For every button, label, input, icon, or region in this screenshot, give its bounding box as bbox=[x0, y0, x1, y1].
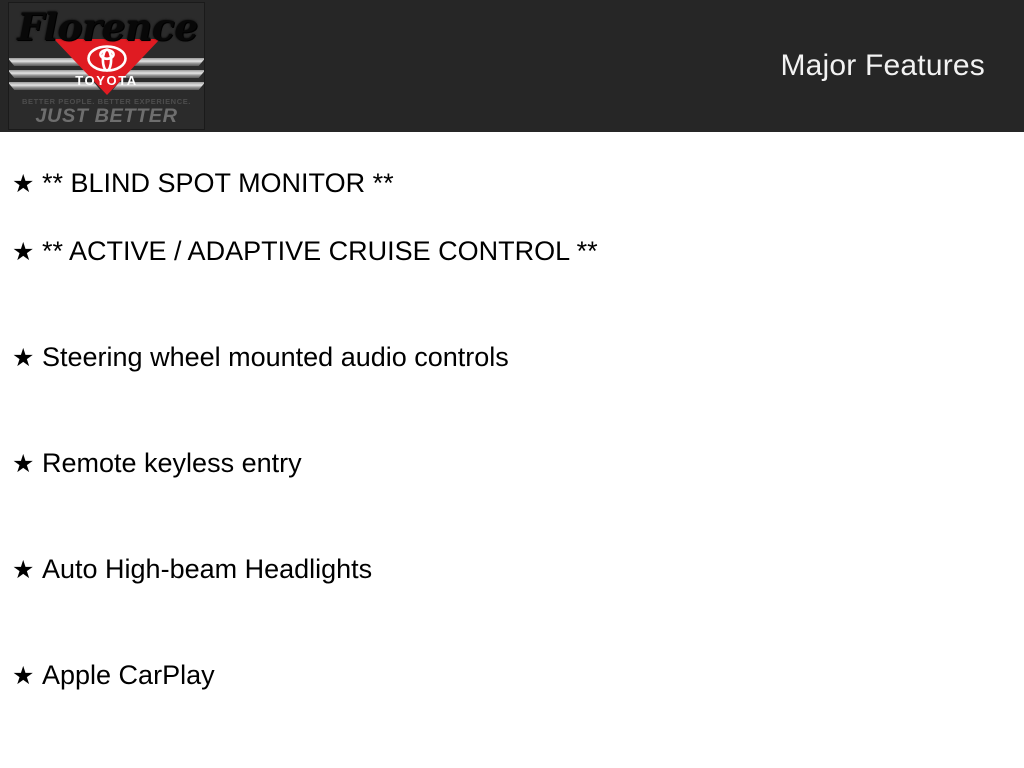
toyota-emblem-icon bbox=[87, 45, 127, 72]
slide-canvas: TOYOTA Florence BETTER PEOPLE. BETTER EX… bbox=[0, 0, 1024, 768]
dealer-logo: TOYOTA Florence BETTER PEOPLE. BETTER EX… bbox=[8, 2, 205, 130]
logo-brand-text: TOYOTA bbox=[9, 73, 204, 88]
logo-tagline-big: JUST BETTER bbox=[8, 106, 205, 128]
list-item: ★ Remote keyless entry bbox=[0, 450, 1024, 556]
dealer-logo-artwork: TOYOTA Florence BETTER PEOPLE. BETTER EX… bbox=[9, 3, 204, 129]
feature-label: Auto High-beam Headlights bbox=[42, 556, 1024, 583]
logo-dealer-name: Florence bbox=[13, 5, 202, 49]
features-list: ★ ** BLIND SPOT MONITOR ** ★ ** ACTIVE /… bbox=[0, 132, 1024, 768]
list-item: ★ Auto High-beam Headlights bbox=[0, 556, 1024, 662]
feature-label: Apple CarPlay bbox=[42, 662, 1024, 689]
list-item: ★ ** ACTIVE / ADAPTIVE CRUISE CONTROL ** bbox=[0, 238, 1024, 344]
page-title: Major Features bbox=[780, 0, 985, 132]
list-item: ★ Steering wheel mounted audio controls bbox=[0, 344, 1024, 450]
star-icon: ★ bbox=[12, 452, 42, 477]
feature-label: ** ACTIVE / ADAPTIVE CRUISE CONTROL ** bbox=[42, 238, 1024, 265]
list-item: ★ ** BLIND SPOT MONITOR ** bbox=[0, 132, 1024, 238]
feature-label: Remote keyless entry bbox=[42, 450, 1024, 477]
star-icon: ★ bbox=[12, 240, 42, 265]
star-icon: ★ bbox=[12, 346, 42, 371]
header-bar: TOYOTA Florence BETTER PEOPLE. BETTER EX… bbox=[0, 0, 1024, 132]
list-item: ★ Apple CarPlay bbox=[0, 662, 1024, 768]
feature-label: ** BLIND SPOT MONITOR ** bbox=[42, 170, 1024, 197]
logo-tagline-small: BETTER PEOPLE. BETTER EXPERIENCE. bbox=[9, 97, 204, 106]
star-icon: ★ bbox=[12, 172, 42, 197]
star-icon: ★ bbox=[12, 558, 42, 583]
feature-label: Steering wheel mounted audio controls bbox=[42, 344, 1024, 371]
star-icon: ★ bbox=[12, 664, 42, 689]
